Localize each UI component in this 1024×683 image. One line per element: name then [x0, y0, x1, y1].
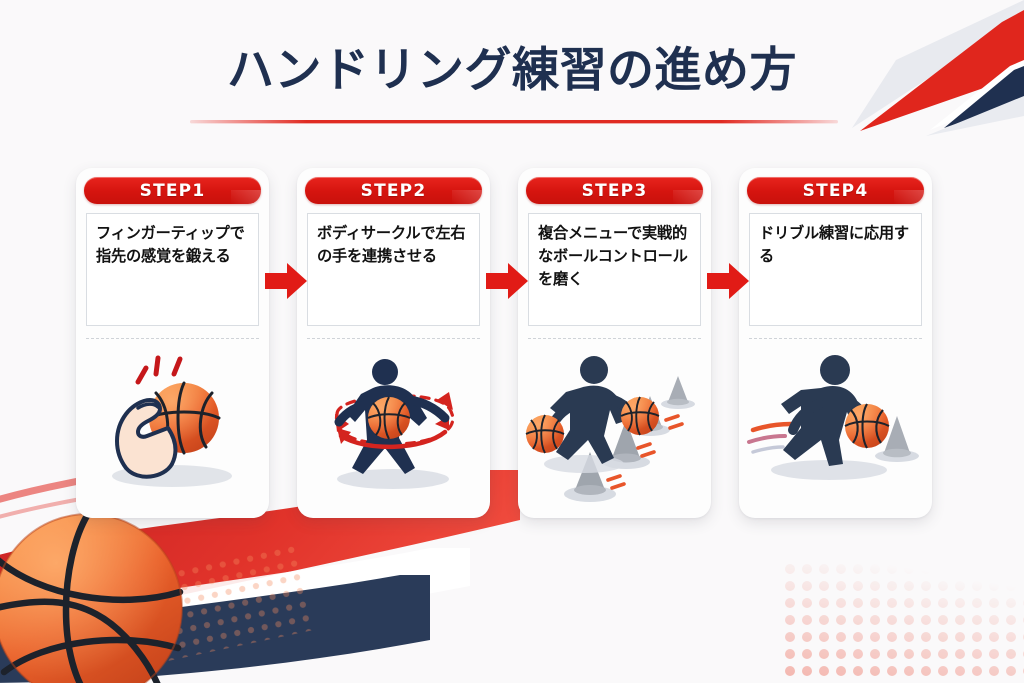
step-textbox-2: ボディサークルで左右の手を連携させる — [307, 213, 480, 326]
step-text-3: 複合メニューで実戦的なボールコントロールを磨く — [538, 222, 691, 291]
step-card-1[interactable]: STEP1 フィンガーティップで指先の感覚を鍛える — [76, 168, 269, 518]
step-badge-label-3: STEP3 — [582, 181, 648, 201]
arrow-step3-to-step4-icon — [707, 261, 749, 301]
step-badge-4: STEP4 — [747, 177, 924, 204]
step-divider-1 — [86, 338, 259, 339]
page-title: ハンドリング練習の進め方 — [0, 44, 1024, 98]
bottom-right-dots-decoration — [780, 560, 1024, 683]
step-badge-label-1: STEP1 — [140, 181, 206, 201]
step-badge-1: STEP1 — [84, 177, 261, 204]
step-textbox-1: フィンガーティップで指先の感覚を鍛える — [86, 213, 259, 326]
step-card-4[interactable]: STEP4 ドリブル練習に応用する — [739, 168, 932, 518]
player-two-balls-cones-icon — [518, 348, 711, 508]
step-text-4: ドリブル練習に応用する — [759, 222, 912, 268]
step-badge-label-4: STEP4 — [803, 181, 869, 201]
player-dribble-cone-icon — [739, 348, 932, 508]
step-badge-2: STEP2 — [305, 177, 482, 204]
step-divider-4 — [749, 338, 922, 339]
infographic-canvas: ハンドリング練習の進め方 STEP1 フィンガーティップで指先の感覚を鍛える — [0, 0, 1024, 683]
step-badge-label-2: STEP2 — [361, 181, 427, 201]
page-title-container: ハンドリング練習の進め方 — [0, 44, 1024, 98]
step-text-2: ボディサークルで左右の手を連携させる — [317, 222, 470, 268]
step-card-2[interactable]: STEP2 ボディサークルで左右の手を連携させる — [297, 168, 490, 518]
step-divider-2 — [307, 338, 480, 339]
step-divider-3 — [528, 338, 701, 339]
player-body-circle-basketball-icon — [297, 348, 490, 508]
step-badge-3: STEP3 — [526, 177, 703, 204]
arrow-step2-to-step3-icon — [486, 261, 528, 301]
step-textbox-4: ドリブル練習に応用する — [749, 213, 922, 326]
step-card-3[interactable]: STEP3 複合メニューで実戦的なボールコントロールを磨く — [518, 168, 711, 518]
title-underline-decoration — [190, 120, 838, 123]
step-text-1: フィンガーティップで指先の感覚を鍛える — [96, 222, 249, 268]
step-textbox-3: 複合メニューで実戦的なボールコントロールを磨く — [528, 213, 701, 326]
steps-container: STEP1 フィンガーティップで指先の感覚を鍛える — [76, 168, 956, 520]
arrow-step1-to-step2-icon — [265, 261, 307, 301]
hand-fingertip-basketball-icon — [76, 348, 269, 508]
